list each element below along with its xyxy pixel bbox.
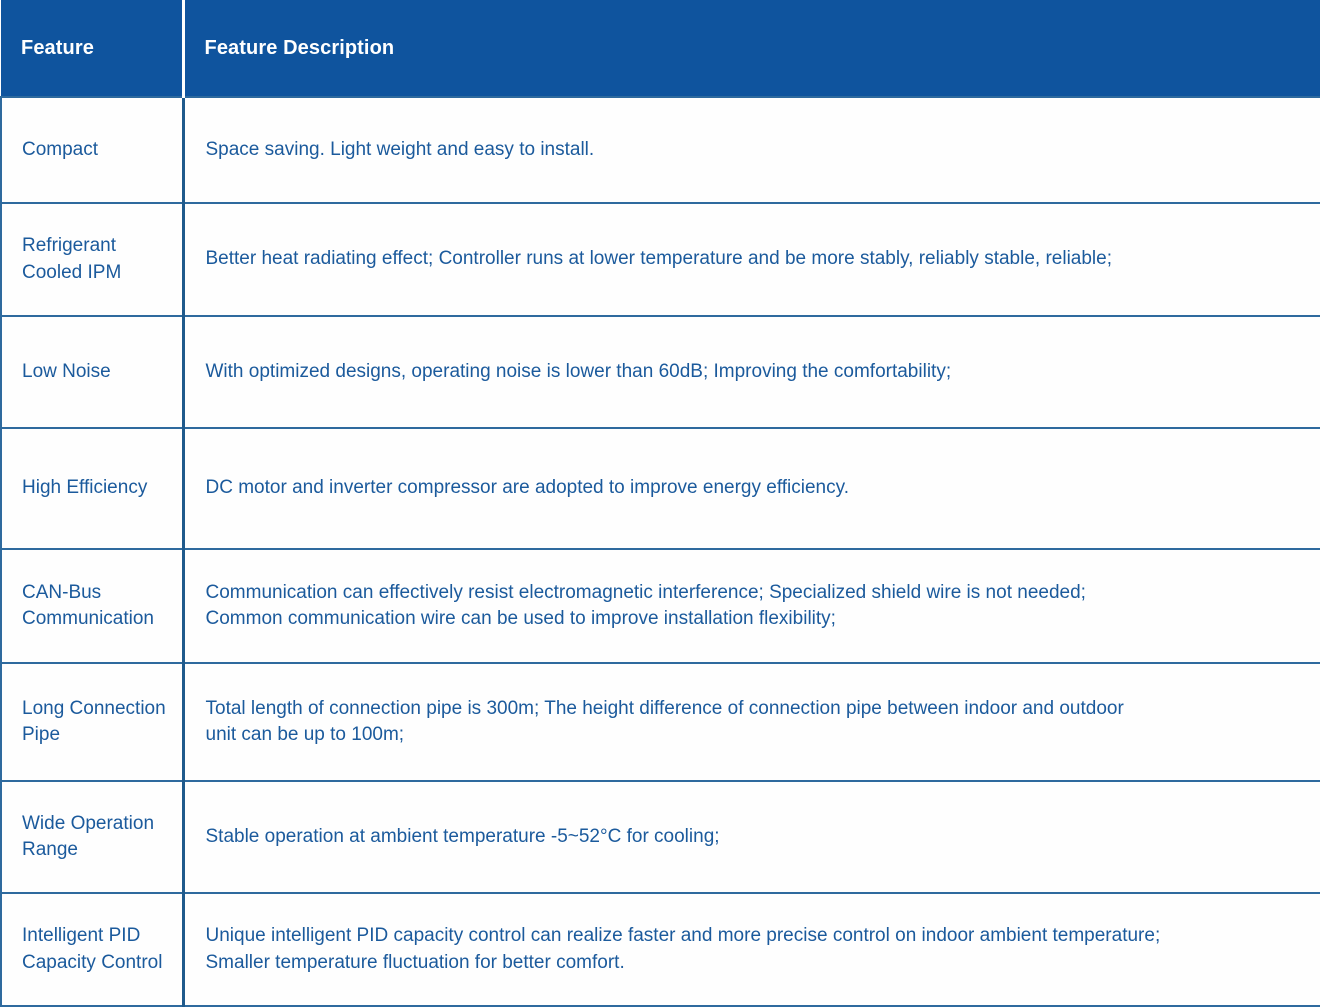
cell-feature-description: Space saving. Light weight and easy to i…	[183, 97, 1320, 203]
table-header: Feature Feature Description	[1, 0, 1320, 97]
cell-feature-name: CAN-Bus Communication	[1, 549, 183, 663]
cell-feature-name: Wide Operation Range	[1, 781, 183, 893]
description-line: Unique intelligent PID capacity control …	[206, 923, 1297, 949]
cell-feature-description: With optimized designs, operating noise …	[183, 316, 1320, 428]
cell-feature-description: Total length of connection pipe is 300m;…	[183, 663, 1320, 781]
cell-feature-description: Communication can effectively resist ele…	[183, 549, 1320, 663]
table-row: Wide Operation Range Stable operation at…	[1, 781, 1320, 893]
table-row: Compact Space saving. Light weight and e…	[1, 97, 1320, 203]
description-line: Communication can effectively resist ele…	[206, 580, 1297, 606]
cell-feature-description: Better heat radiating effect; Controller…	[183, 203, 1320, 316]
cell-feature-name: Compact	[1, 97, 183, 203]
cell-feature-name: Intelligent PID Capacity Control	[1, 893, 183, 1006]
table-row: Low Noise With optimized designs, operat…	[1, 316, 1320, 428]
cell-feature-description: DC motor and inverter compressor are ado…	[183, 428, 1320, 549]
cell-feature-name: Long Connection Pipe	[1, 663, 183, 781]
cell-feature-name: Refrigerant Cooled IPM	[1, 203, 183, 316]
description-line: Total length of connection pipe is 300m;…	[206, 696, 1297, 722]
column-header-feature-description: Feature Description	[183, 0, 1320, 97]
table-row: Long Connection Pipe Total length of con…	[1, 663, 1320, 781]
description-line: unit can be up to 100m;	[206, 722, 1297, 748]
cell-feature-description: Unique intelligent PID capacity control …	[183, 893, 1320, 1006]
description-line: Better heat radiating effect; Controller…	[206, 246, 1297, 272]
description-line: Space saving. Light weight and easy to i…	[206, 137, 1297, 163]
column-header-feature: Feature	[1, 0, 183, 97]
cell-feature-name: High Efficiency	[1, 428, 183, 549]
description-line: With optimized designs, operating noise …	[206, 359, 1297, 385]
description-line: Smaller temperature fluctuation for bett…	[206, 950, 1297, 976]
table-row: Intelligent PID Capacity Control Unique …	[1, 893, 1320, 1006]
description-line: DC motor and inverter compressor are ado…	[206, 475, 1297, 501]
table-header-row: Feature Feature Description	[1, 0, 1320, 97]
table-body: Compact Space saving. Light weight and e…	[1, 97, 1320, 1006]
cell-feature-name: Low Noise	[1, 316, 183, 428]
description-line: Stable operation at ambient temperature …	[206, 824, 1297, 850]
cell-feature-description: Stable operation at ambient temperature …	[183, 781, 1320, 893]
table-row: Refrigerant Cooled IPM Better heat radia…	[1, 203, 1320, 316]
table-row: CAN-Bus Communication Communication can …	[1, 549, 1320, 663]
feature-table: Feature Feature Description Compact Spac…	[0, 0, 1320, 1007]
table-row: High Efficiency DC motor and inverter co…	[1, 428, 1320, 549]
description-line: Common communication wire can be used to…	[206, 606, 1297, 632]
